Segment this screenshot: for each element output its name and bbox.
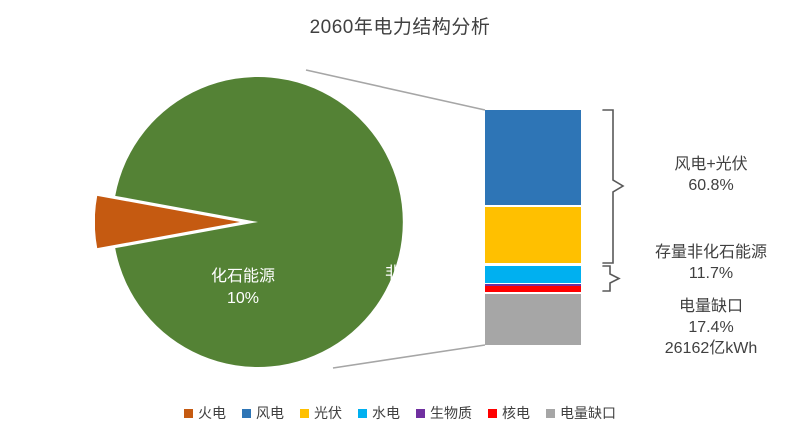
legend-item[interactable]: 火电 [184, 403, 226, 423]
chart-canvas: 2060年电力结构分析 非化石能源 90% 化石能源 10% [0, 0, 800, 433]
legend-swatch-icon [546, 409, 555, 418]
annotation-stock-name: 存量非化石能源 [627, 242, 795, 263]
annotation-wind-solar: 风电+光伏 60.8% [636, 154, 786, 196]
legend-item-label: 电量缺口 [560, 403, 616, 423]
annotation-stock-value: 11.7% [627, 263, 795, 284]
pie-chart: 非化石能源 90% 化石能源 10% [95, 67, 405, 377]
legend-swatch-icon [300, 409, 309, 418]
legend-swatch-icon [488, 409, 497, 418]
annotation-gap-absolute: 26162亿kWh [630, 338, 792, 359]
legend-item[interactable]: 核电 [488, 403, 530, 423]
bar-segment-nuclear[interactable] [485, 286, 581, 292]
legend-swatch-icon [242, 409, 251, 418]
legend-swatch-icon [358, 409, 367, 418]
annotation-wind-solar-name: 风电+光伏 [636, 154, 786, 175]
legend-swatch-icon [184, 409, 193, 418]
chart-legend: 火电风电光伏水电生物质核电电量缺口 [0, 403, 800, 423]
legend-item[interactable]: 电量缺口 [546, 403, 616, 423]
brace-group [595, 100, 635, 360]
legend-item-label: 风电 [256, 403, 284, 423]
legend-swatch-icon [416, 409, 425, 418]
bar-segment-gap[interactable] [485, 294, 581, 345]
annotation-wind-solar-value: 60.8% [636, 175, 786, 196]
legend-item[interactable]: 光伏 [300, 403, 342, 423]
legend-item[interactable]: 生物质 [416, 403, 472, 423]
legend-item-label: 核电 [502, 403, 530, 423]
legend-item[interactable]: 水电 [358, 403, 400, 423]
annotation-stock-nonfossil: 存量非化石能源 11.7% [627, 242, 795, 284]
annotation-gap-name: 电量缺口 [630, 296, 792, 317]
pie-svg [95, 67, 405, 377]
legend-item-label: 生物质 [430, 403, 472, 423]
bar-segment-hydro[interactable] [485, 266, 581, 283]
brace-stock-nonfossil [603, 266, 619, 291]
legend-item-label: 光伏 [314, 403, 342, 423]
stacked-bar [485, 110, 581, 345]
legend-item-label: 水电 [372, 403, 400, 423]
bar-segment-wind[interactable] [485, 110, 581, 205]
legend-item-label: 火电 [198, 403, 226, 423]
legend-item[interactable]: 风电 [242, 403, 284, 423]
bar-segment-solar[interactable] [485, 207, 581, 263]
annotation-gap-value: 17.4% [630, 317, 792, 338]
chart-title: 2060年电力结构分析 [0, 12, 800, 39]
brace-wind-solar [603, 110, 623, 263]
annotation-power-gap: 电量缺口 17.4% 26162亿kWh [630, 296, 792, 359]
